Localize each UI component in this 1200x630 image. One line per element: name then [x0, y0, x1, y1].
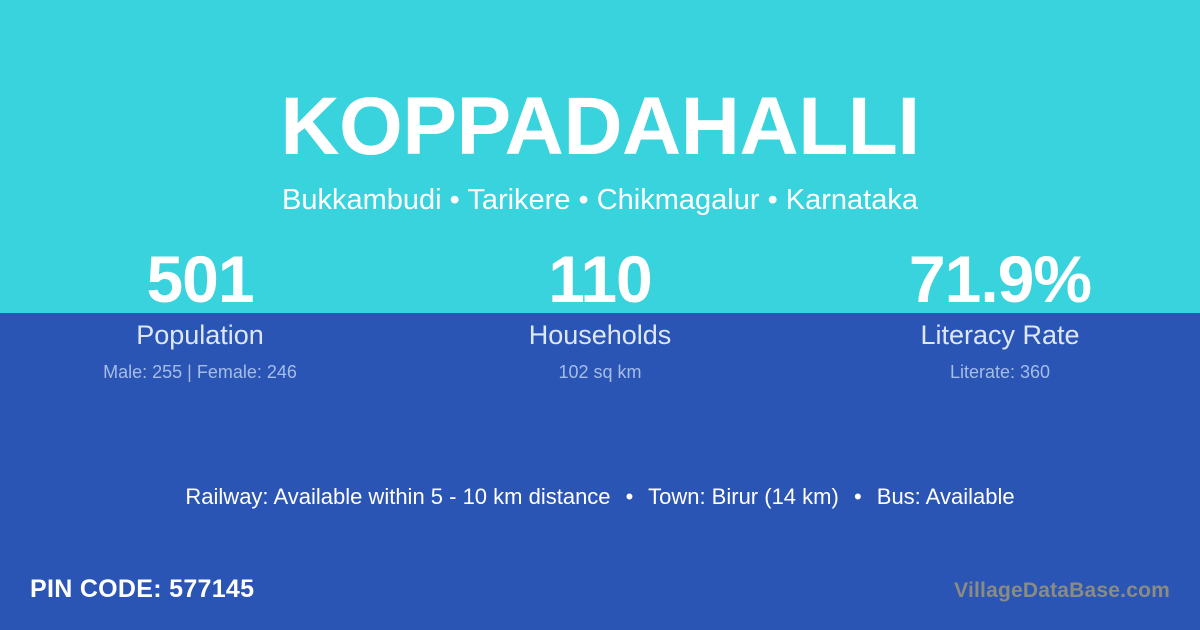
- header: KOPPADAHALLI Bukkambudi • Tarikere • Chi…: [0, 0, 1200, 215]
- stat-households: 110 Households 102 sq km: [400, 246, 800, 381]
- amenities-line: Railway: Available within 5 - 10 km dist…: [0, 486, 1200, 508]
- footer: PIN CODE: 577145 VillageDataBase.com: [0, 573, 1200, 613]
- pin-code-label: PIN CODE: 577145: [30, 577, 254, 602]
- stat-sub-population: Male: 255 | Female: 246: [0, 363, 400, 381]
- amenity-railway: Railway: Available within 5 - 10 km dist…: [185, 484, 610, 509]
- village-info-card: KOPPADAHALLI Bukkambudi • Tarikere • Chi…: [0, 0, 1200, 630]
- amenity-town: Town: Birur (14 km): [648, 484, 839, 509]
- stat-value-population: 501: [0, 246, 400, 313]
- breadcrumb: Bukkambudi • Tarikere • Chikmagalur • Ka…: [0, 168, 1200, 215]
- page-title: KOPPADAHALLI: [0, 0, 1200, 168]
- stat-literacy-rate: 71.9% Literacy Rate Literate: 360: [800, 246, 1200, 381]
- stat-value-households: 110: [400, 246, 800, 313]
- stat-label-households: Households: [400, 322, 800, 349]
- stat-label-population: Population: [0, 322, 400, 349]
- amenity-bus: Bus: Available: [877, 484, 1015, 509]
- stat-sub-households: 102 sq km: [400, 363, 800, 381]
- amenity-separator-icon: •: [845, 484, 871, 509]
- site-brand: VillageDataBase.com: [954, 580, 1170, 601]
- stats-row: 501 Population Male: 255 | Female: 246 1…: [0, 246, 1200, 381]
- stat-sub-literacy-rate: Literate: 360: [800, 363, 1200, 381]
- amenity-separator-icon: •: [617, 484, 643, 509]
- stat-value-literacy-rate: 71.9%: [800, 246, 1200, 313]
- stat-label-literacy-rate: Literacy Rate: [800, 322, 1200, 349]
- stat-population: 501 Population Male: 255 | Female: 246: [0, 246, 400, 381]
